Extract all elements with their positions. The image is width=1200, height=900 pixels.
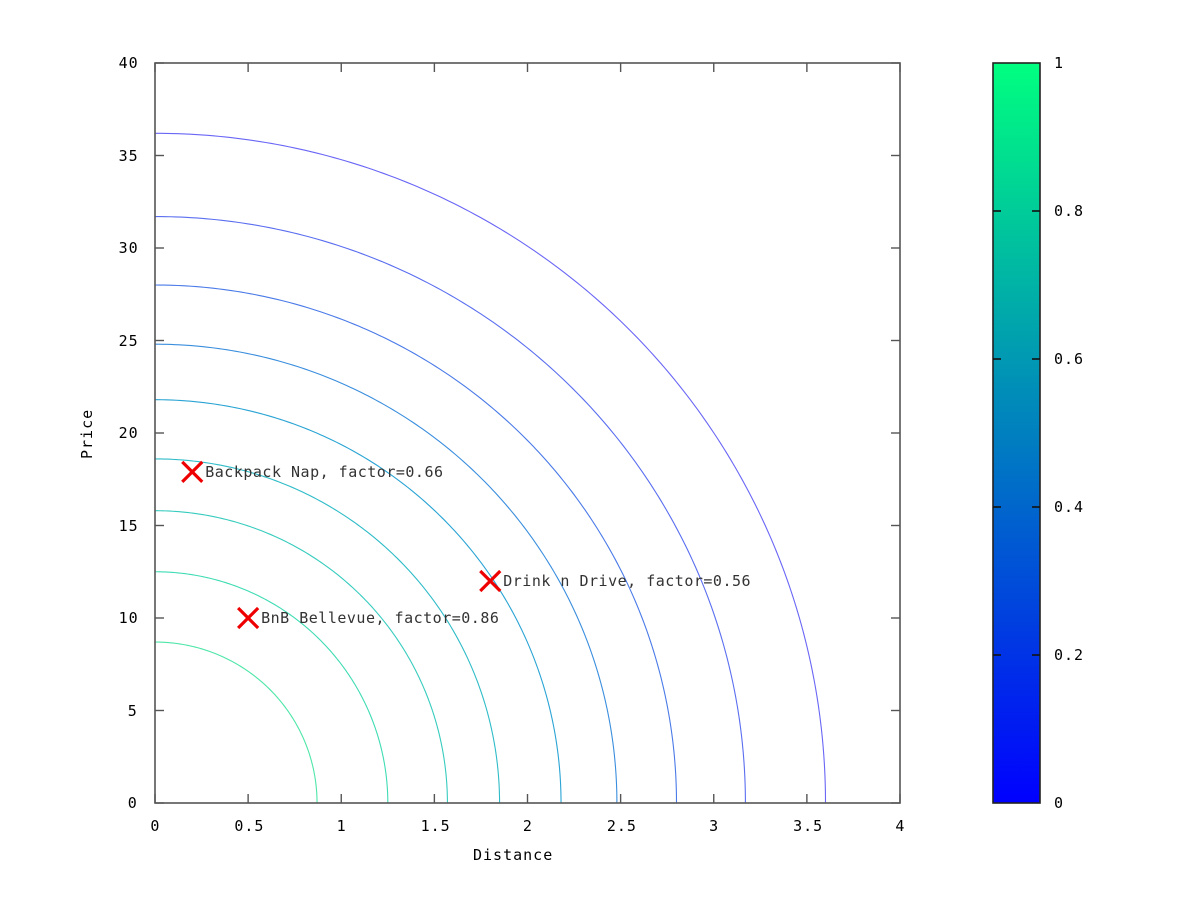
contour-line [155, 400, 561, 803]
x-axis-title: Distance [473, 846, 553, 864]
x-tick-label: 4 [895, 817, 905, 835]
colorbar-tick-label: 0.2 [1054, 646, 1084, 664]
y-tick-label: 30 [119, 239, 139, 257]
x-tick-label: 2 [523, 817, 533, 835]
colorbar-gradient [993, 63, 1040, 803]
contour-line [155, 217, 745, 803]
marker-x-icon [182, 462, 202, 482]
marker-x-icon [480, 571, 500, 591]
y-tick-label: 25 [119, 332, 139, 350]
colorbar-group [993, 63, 1040, 803]
y-tick-label: 15 [119, 517, 139, 535]
colorbar-tick-label: 0.6 [1054, 350, 1084, 368]
y-tick-label: 5 [128, 702, 138, 720]
marker-x-icon [238, 608, 258, 628]
marker-annotation-label: BnB Bellevue, factor=0.86 [261, 609, 499, 627]
x-tick-label: 3.5 [793, 817, 823, 835]
axes-frame-group [155, 63, 900, 803]
y-tick-label: 35 [119, 147, 139, 165]
x-tick-label: 0.5 [234, 817, 264, 835]
contour-plot-figure: 00.511.522.533.540510152025303540Backpac… [0, 0, 1200, 900]
x-tick-label: 1.5 [421, 817, 451, 835]
y-tick-label: 0 [128, 794, 138, 812]
marker-annotation-label: Drink n Drive, factor=0.56 [503, 572, 751, 590]
y-axis-title: Price [78, 409, 96, 459]
contour-line [155, 459, 500, 803]
contour-line [155, 572, 388, 803]
colorbar-tick-label: 0.8 [1054, 202, 1084, 220]
contour-line [155, 511, 447, 803]
x-tick-label: 1 [337, 817, 347, 835]
plot-frame [155, 63, 900, 803]
y-tick-label: 10 [119, 609, 139, 627]
y-tick-label: 20 [119, 424, 139, 442]
y-tick-label: 40 [119, 54, 139, 72]
marker-group [182, 462, 500, 628]
x-tick-label: 2.5 [607, 817, 637, 835]
colorbar-tick-label: 0.4 [1054, 498, 1084, 516]
colorbar-tick-label: 0 [1054, 794, 1064, 812]
contour-line [155, 285, 677, 803]
contour-line [155, 642, 317, 803]
colorbar-tick-label: 1 [1054, 54, 1064, 72]
x-tick-label: 0 [150, 817, 160, 835]
marker-annotation-label: Backpack Nap, factor=0.66 [205, 463, 443, 481]
x-tick-label: 3 [709, 817, 719, 835]
plot-canvas [0, 0, 1200, 900]
